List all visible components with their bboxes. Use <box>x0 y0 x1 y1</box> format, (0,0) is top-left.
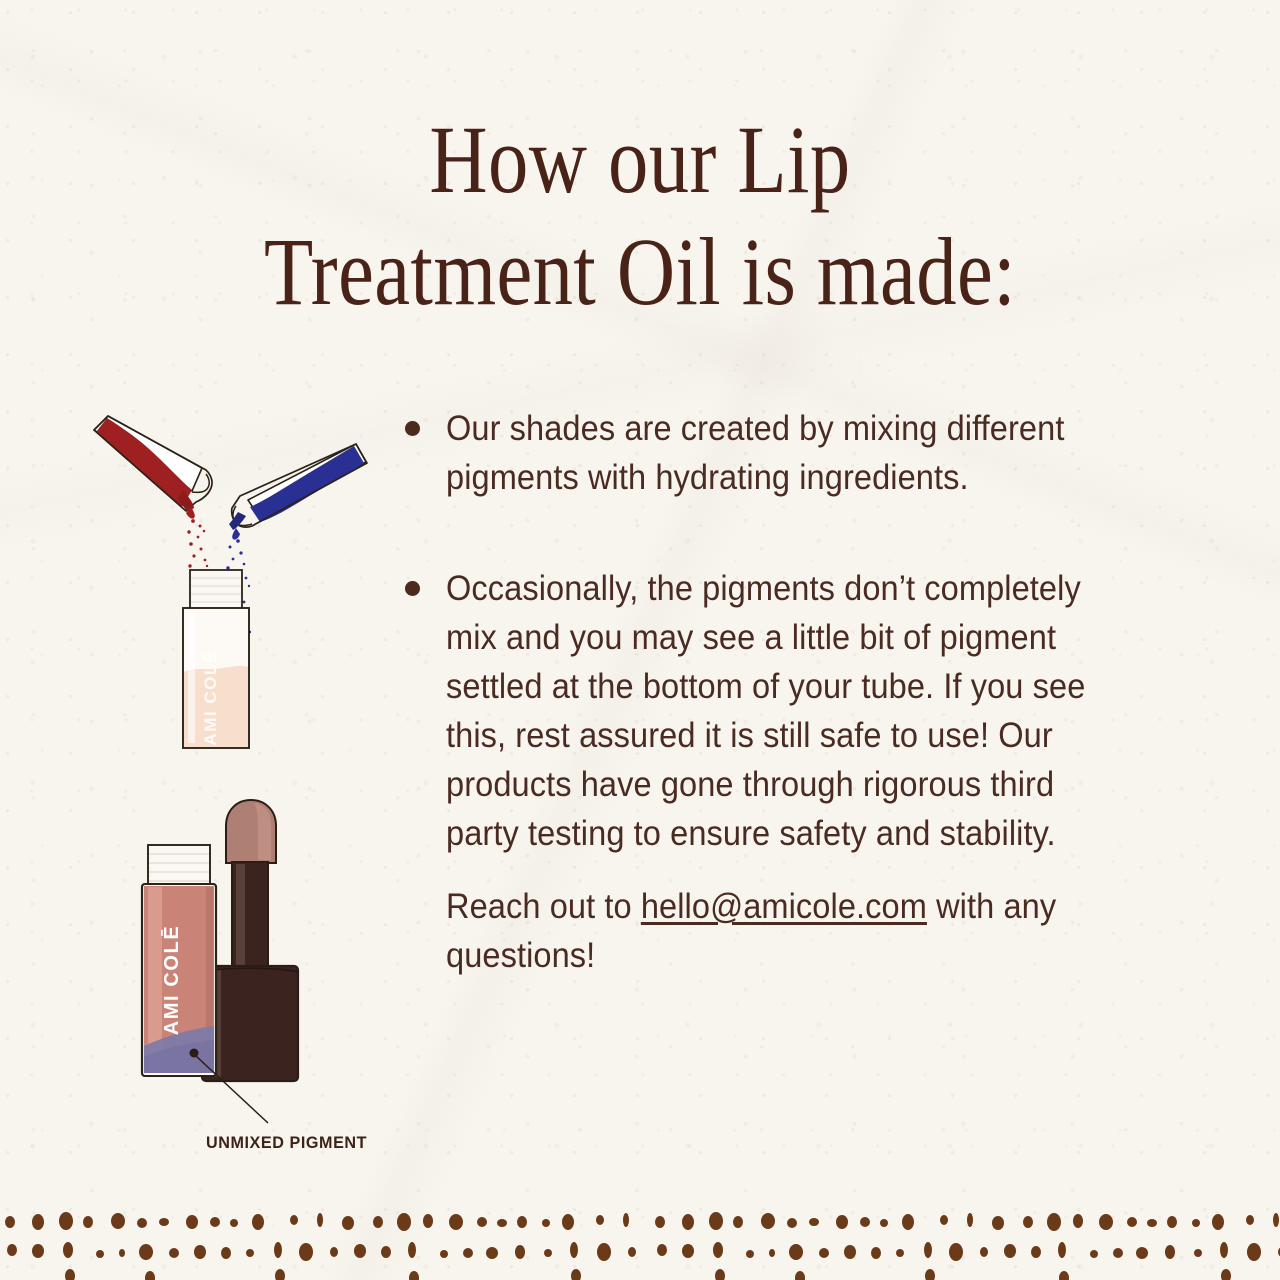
red-pigment-tube <box>94 416 212 519</box>
bullet-1-text: Our shades are created by mixing differe… <box>446 404 1108 502</box>
list-item: Our shades are created by mixing differe… <box>398 404 1158 502</box>
lip-oil-bottle: AMI COLĒ <box>142 845 216 1076</box>
decorative-dot-border <box>0 1210 1280 1280</box>
illustration-lip-oil-tube: AMI COLĒ <box>118 788 388 1178</box>
list-item: Occasionally, the pigments don’t complet… <box>398 564 1158 980</box>
poster-canvas: How our Lip Treatment Oil is made: Our s… <box>0 0 1280 1280</box>
callout-label-unmixed-pigment: UNMIXED PIGMENT <box>206 1133 367 1153</box>
page-title-line-2: Treatment Oil is made: <box>102 216 1177 328</box>
contact-paragraph: Reach out to hello@amicole.com with any … <box>446 882 1108 980</box>
illustration-pigment-mixing: AMI COLĒ <box>70 408 380 768</box>
bullet-dot-icon <box>405 581 420 596</box>
page-title: How our Lip Treatment Oil is made: <box>0 104 1280 328</box>
contact-text-before: Reach out to <box>446 887 641 926</box>
clear-tube-brand-text: AMI COLĒ <box>201 650 220 745</box>
page-title-line-1: How our Lip <box>102 104 1177 216</box>
clear-lip-oil-tube: AMI COLĒ <box>183 570 249 748</box>
body-copy: Our shades are created by mixing differe… <box>398 404 1158 980</box>
bullet-2-text: Occasionally, the pigments don’t complet… <box>446 564 1108 858</box>
bullet-dot-icon <box>405 421 420 436</box>
email-link[interactable]: hello@amicole.com <box>641 887 927 926</box>
blue-pigment-tube <box>229 444 367 540</box>
lip-oil-brand-text: AMI COLĒ <box>161 925 183 1036</box>
